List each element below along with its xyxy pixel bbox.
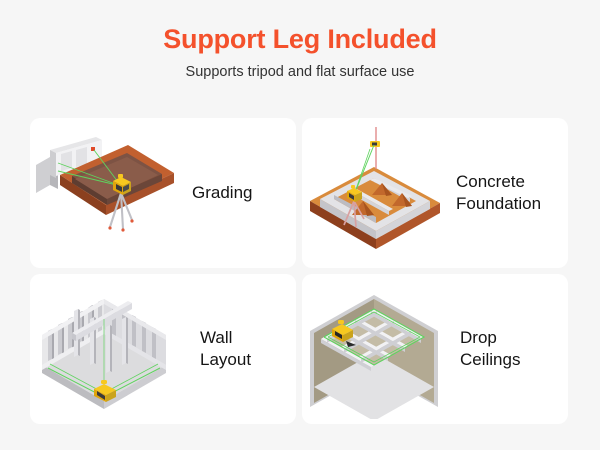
header: Support Leg Included Supports tripod and… bbox=[0, 0, 600, 80]
feature-card-label: Grading bbox=[192, 182, 258, 204]
steel-stud-wall-framing-isometric-icon bbox=[30, 279, 180, 419]
feature-card-label: Drop Ceilings bbox=[460, 327, 526, 371]
feature-card-drop-ceilings[interactable]: Drop Ceilings bbox=[302, 274, 568, 424]
promo-banner: Support Leg Included Supports tripod and… bbox=[0, 0, 600, 450]
concrete-foundation-isometric-icon bbox=[302, 123, 450, 263]
feature-card-grading[interactable]: Grading bbox=[30, 118, 296, 268]
feature-card-concrete-foundation[interactable]: Concrete Foundation bbox=[302, 118, 568, 268]
feature-card-label: Wall Layout bbox=[200, 327, 257, 371]
page-subtitle: Supports tripod and flat surface use bbox=[0, 64, 600, 80]
feature-card-grid: Grading bbox=[30, 118, 568, 424]
feature-card-wall-layout[interactable]: Wall Layout bbox=[30, 274, 296, 424]
page-title: Support Leg Included bbox=[0, 24, 600, 55]
feature-card-label: Concrete Foundation bbox=[456, 171, 547, 215]
drop-ceiling-grid-isometric-icon bbox=[302, 279, 450, 419]
grading-excavation-isometric-icon bbox=[30, 123, 180, 263]
